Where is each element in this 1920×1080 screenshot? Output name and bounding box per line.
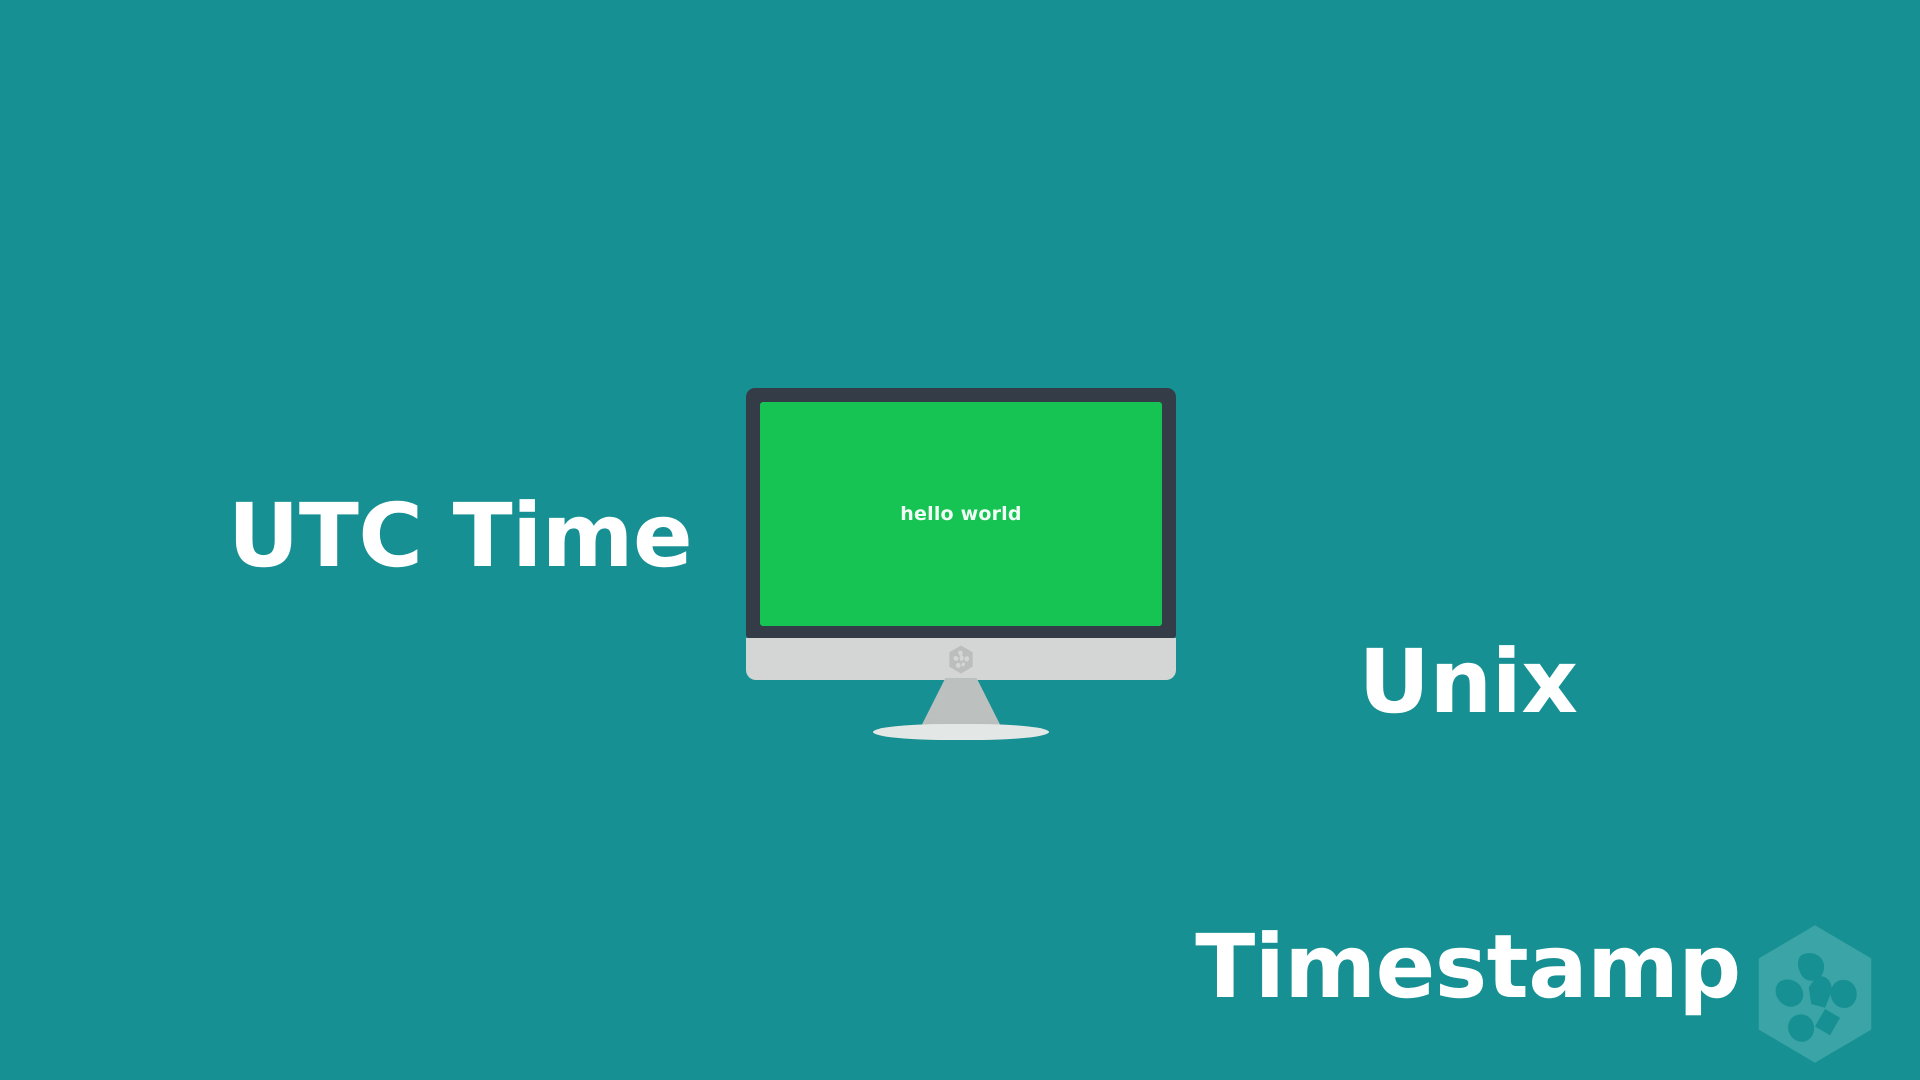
monitor-screen: hello world — [760, 402, 1162, 626]
monitor-stand-base — [873, 724, 1049, 740]
monitor-illustration: hello world — [746, 388, 1176, 682]
exercism-hexagon-watermark-icon — [1752, 924, 1878, 1064]
label-unix-timestamp-line2: Timestamp — [1168, 919, 1768, 1014]
monitor-chin — [746, 638, 1176, 680]
label-unix-timestamp-line1: Unix — [1168, 634, 1768, 729]
label-unix-timestamp: Unix Timestamp — [1168, 444, 1768, 1080]
slide-canvas: UTC Time hello world U — [0, 0, 1920, 1080]
exercism-hexagon-icon — [948, 645, 974, 674]
screen-hello-world-text: hello world — [900, 505, 1021, 524]
label-utc-time: UTC Time — [160, 488, 760, 583]
